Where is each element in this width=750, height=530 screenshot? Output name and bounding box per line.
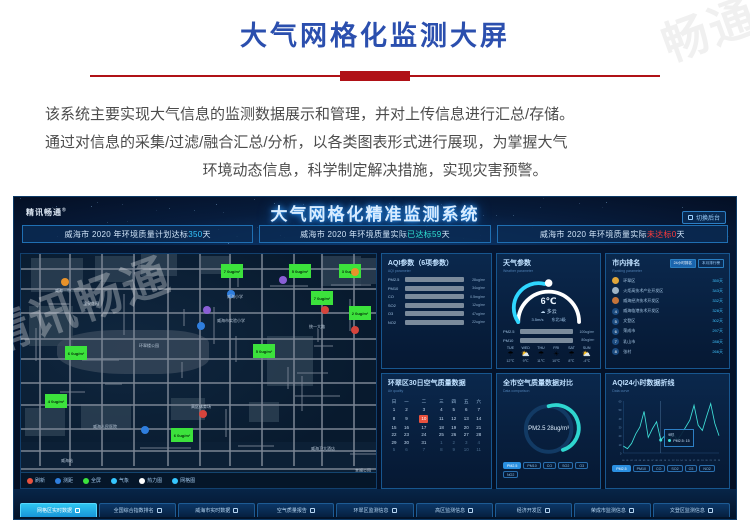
calendar-day[interactable]: 11 [435,413,447,423]
forecast-day-temp: -4℃ [579,359,594,363]
bottom-tab[interactable]: 高区监测信息 [416,503,493,517]
map-tool-测距[interactable]: 测距 [55,477,73,484]
bottom-tab[interactable]: 文登区监测信息 [653,503,730,517]
calendar-day[interactable]: 1 [435,439,447,446]
ranking-card-subtitle: Ranking parameter [612,268,723,274]
ranking-position: 6 [612,328,619,335]
map-road-minor [105,383,122,385]
line-chart-subtitle: Data curve [612,388,723,394]
aqi-row: SO212ug/m³ [388,303,485,308]
map-road-horizontal [21,268,377,270]
weather-bar-track [520,338,573,343]
ranking-row[interactable]: 8张村266天 [612,348,723,355]
expand-icon [233,508,238,513]
calendar-day[interactable]: 28 [472,431,485,438]
calendar-weekday: 日 [388,397,400,406]
expand-icon [468,508,473,513]
map-road-minor [132,268,134,281]
weather-bar-row: PM1080ug/m³ [503,338,594,343]
calendar-day[interactable]: 9 [400,413,412,423]
kpi-suffix: 天 [442,229,450,240]
svg-text:60: 60 [619,400,622,403]
svg-text:10: 10 [619,444,622,447]
svg-text:40: 40 [619,418,622,421]
bottom-tab-label: 威海市实时数据 [195,507,230,514]
map-place-label: 威海人民医院 [93,424,117,430]
kpi-prefix: 威海市 2020 年环境质量计划达标 [65,229,189,240]
map-data-marker[interactable]: 7 0ug/m³ [311,291,333,305]
bottom-tab-label: 文登区监测信息 [670,507,705,514]
calendar-day[interactable]: 18 [435,424,447,431]
weather-card-subtitle: Weather parameter [503,268,594,274]
expand-icon [392,508,397,513]
map-road-minor [140,447,191,449]
map-poi-icon[interactable] [199,410,207,418]
ranking-name: 威海经济技术开发区 [623,298,708,304]
kpi-value: 350 [188,230,202,239]
ranking-position: 8 [612,348,619,355]
bottom-tab-label: 环翠区监测信息 [353,507,388,514]
map-tool-label: 测距 [63,477,73,484]
svg-text:09: 09 [660,460,663,462]
map-road-horizontal [21,468,377,470]
calendar-week-row: 1234567 [388,406,485,413]
calendar-weekday: 六 [472,397,485,406]
weather-bar-label: PM2.5 [503,329,517,334]
kpi-strip: 威海市 2020 年环境质量计划达标 350 天威海市 2020 年环境质量实际… [14,225,736,243]
ranking-position [612,297,619,304]
map-road-minor [297,372,328,374]
calendar-weekday: 三 [435,397,447,406]
ranking-position: 7 [612,338,619,345]
divider-block [340,71,410,81]
map-poi-icon[interactable] [351,326,359,334]
weather-card-title: 天气参数 [503,259,594,268]
page-description: 该系统主要实现大气信息的监测数据展示和管理，并对上传信息进行汇总/存储。 通过对… [45,101,705,185]
aqi-row: PM2.528ug/m³ [388,277,485,282]
kpi-value: 未达标0 [647,229,677,240]
dashboard-column-2: AQI参数（6项参数） AQI parameter PM2.528ug/m³PM… [381,253,492,489]
pollutant-chip[interactable]: PM2.5 [612,465,630,472]
svg-text:05: 05 [643,460,646,462]
cloud-icon: ☁ [540,309,545,315]
svg-text:20: 20 [619,435,622,438]
aqi-card-subtitle: AQI parameter [388,268,485,274]
calendar-week-row: 22232425262728 [388,431,485,438]
map-road-vertical [199,254,201,466]
pollutant-chip[interactable]: SO2 [667,465,682,472]
forecast-day: TUE☂12℃ [503,346,518,363]
map-road-horizontal [21,382,377,384]
calendar-day[interactable]: 30 [400,439,412,446]
calendar-day[interactable]: 23 [400,431,412,438]
ranking-value: 328天 [712,308,723,314]
ranking-name: 乳山市 [623,339,708,345]
weather-condition: ☁ 多云 [503,308,594,315]
calendar-day[interactable]: 21 [472,424,485,431]
forecast-day: SAT☂8℃ [564,346,579,363]
bottom-tab[interactable]: 环翠区监测信息 [336,503,413,517]
calendar-day[interactable]: 17 [413,424,435,431]
ranking-name: 环翠区 [623,278,708,284]
calendar-day[interactable]: 22 [388,431,400,438]
map-toolbar[interactable]: 刷新测距全屏气象热力图网格图 [21,472,376,488]
map-tool-icon [83,478,89,484]
calendar-day[interactable]: 9 [448,446,460,453]
map-road-minor [35,328,37,361]
aqi-row-list: PM2.528ug/m³PM1034ug/m³CO0.5mg/m³SO212ug… [388,277,485,325]
ranking-name: 张村 [623,349,708,355]
svg-text:0: 0 [620,452,622,455]
bottom-tab-label: 全国综合指数排名 [114,507,154,514]
map-data-marker[interactable]: 6 0ug/m³ [171,428,193,442]
calendar-day[interactable]: 11 [472,446,485,453]
ranking-row[interactable]: 6荣成市297天 [612,328,723,335]
page-root: 畅通 精讯畅通 大气网格化监测大屏 该系统主要实现大气信息的监测数据展示和管理，… [0,0,750,530]
wind-direction: 东北3级 [551,317,565,323]
calendar-day[interactable]: 3 [413,406,435,413]
calendar-day[interactable]: 5 [388,446,400,453]
map-road-minor [295,395,340,397]
map-road-minor [331,284,371,286]
map-tool-label: 热力图 [147,477,162,484]
map-road-horizontal [21,288,377,290]
bottom-tab[interactable]: 威海市实时数据 [178,503,255,517]
page-title: 大气网格化监测大屏 [0,0,750,53]
ranking-row[interactable]: 5文登区302天 [612,318,723,325]
map-tool-icon [111,478,117,484]
calendar-day[interactable]: 19 [448,424,460,431]
line-chart-plot[interactable]: 6050403020100000102030405060708091011121… [612,397,723,463]
comparison-gauge-card: 全市空气质量数据对比 Data comparison PM2.5 28ug/m³… [496,373,601,489]
forecast-day-temp: 10℃ [549,359,564,363]
map-place-label: 温泉花园 [83,301,99,307]
ranking-card: 市内排名 Ranking parameter 24小时排名本月排行榜 环翠区35… [605,253,730,369]
calendar-head-row: 日一二三四五六 [388,397,485,406]
calendar-day[interactable]: 4 [472,439,485,446]
aqi-row-value: 47ug/m³ [467,312,485,316]
pollutant-chip[interactable]: PM10 [633,465,650,472]
weather-gauge: 6℃ ☁ 多云 3.5m/s 东北3级 [503,277,594,329]
expand-icon [708,508,713,513]
calendar-day[interactable]: 14 [472,413,485,423]
svg-text:13: 13 [676,460,679,462]
calendar-card: 环翠区30日空气质量数据 Air quality 日一二三四五六12345678… [381,373,492,489]
bottom-tab[interactable]: 全国综合指数排名 [99,503,176,517]
svg-text:21: 21 [710,460,713,462]
weather-bar-row: PM2.5100ug/m³ [503,329,594,334]
map-data-marker[interactable]: 6 0ug/m³ [65,346,87,360]
pollutant-chip[interactable]: PM10 [523,462,540,469]
expand-icon [75,508,80,513]
map-poi-icon[interactable] [61,278,69,286]
svg-text:08: 08 [656,460,659,462]
map-tool-label: 刷新 [35,477,45,484]
calendar-day[interactable]: 8 [388,413,400,423]
aqi-row-label: NO2 [388,320,402,325]
map-data-marker[interactable]: 5 0ug/m³ [253,344,275,358]
ranking-value: 332天 [712,298,723,304]
weather-icon: ⛅ [518,350,533,359]
calendar-day[interactable]: 6 [460,406,472,413]
pollutant-chip[interactable]: SO2 [558,462,573,469]
calendar-day[interactable]: 6 [400,446,412,453]
aqi-row-label: CO [388,294,402,299]
air-quality-calendar[interactable]: 日一二三四五六123456789101112131415161718192021… [388,397,485,453]
gauge-value-label: PM2.5 28ug/m³ [503,398,594,460]
bottom-tab-bar[interactable]: 网格区实时数据全国综合指数排名威海市实时数据空气质量报告环翠区监测信息高区监测信… [14,489,736,519]
pollutant-chip[interactable]: PM2.5 [503,462,521,469]
ranking-row[interactable]: 4威海临港技术开发区328天 [612,308,723,315]
dashboard-column-4: 市内排名 Ranking parameter 24小时排名本月排行榜 环翠区35… [605,253,730,489]
ranking-name: 荣成市 [623,328,708,334]
ranking-row[interactable]: 7乳山市288天 [612,338,723,345]
weather-bar-value: 100ug/m³ [576,330,594,334]
aqi-row-value: 0.5mg/m³ [467,295,485,299]
map-road-vertical [229,254,231,466]
pollutant-chip[interactable]: CO [652,465,665,472]
weather-bar-track [520,329,573,334]
map-road-minor [314,345,333,347]
map-road-minor [149,268,170,270]
calendar-week-row: 2930311234 [388,439,485,446]
calendar-day[interactable]: 31 [413,439,435,446]
map-road-minor [225,409,227,437]
map-poi-icon[interactable] [351,268,359,276]
calendar-day[interactable]: 26 [448,431,460,438]
dashboard-header: 精讯畅通® 大气网格化精准监测系统 切换后台 威海市 2020 年环境质量计划达… [14,197,736,245]
aqi-row: PM1034ug/m³ [388,286,485,291]
map-road-minor [301,376,303,411]
calendar-day[interactable]: 27 [460,431,472,438]
calendar-day[interactable]: 5 [448,406,460,413]
switch-backend-button[interactable]: 切换后台 [682,211,726,224]
map-poi-icon[interactable] [321,306,329,314]
calendar-day-selected: 10 [419,415,428,423]
dashboard-title: 大气网格化精准监测系统 [14,200,736,225]
ranking-row[interactable]: 威海经济技术开发区332天 [612,297,723,304]
pollutant-chip[interactable]: O3 [575,462,588,469]
gauge-chip-row[interactable]: PM2.5PM10COSO2O3NO2 [503,462,594,478]
map-road-minor [60,391,85,393]
calendar-day[interactable]: 29 [388,439,400,446]
description-line-1: 该系统主要实现大气信息的监测数据展示和管理，并对上传信息进行汇总/存储。 [45,101,705,129]
ranking-value: 288天 [712,339,723,345]
map-data-marker[interactable]: 5 0ug/m³ [289,264,311,278]
map-place-label: 威海市实验小学 [217,318,245,324]
calendar-day[interactable]: 25 [435,431,447,438]
svg-text:01: 01 [627,460,630,462]
aqi-row-track [405,311,464,316]
ranking-tab[interactable]: 本月排行榜 [698,259,724,268]
kpi-value: 已达标59 [407,229,441,240]
svg-text:04: 04 [639,460,642,462]
map-tool-icon [139,478,145,484]
weather-icon: ⛅ [579,350,594,359]
map-block [25,408,65,436]
gauge-card-title: 全市空气质量数据对比 [503,379,594,388]
tooltip-series-label: PM2.5: 15 [673,439,689,443]
pollutant-chip[interactable]: NO2 [699,465,714,472]
map-place-label: 统一大路 [309,324,325,330]
pollutant-chip[interactable]: CO [543,462,556,469]
bottom-tab-label: 高区监测信息 [435,507,465,514]
map-road-minor [183,309,185,326]
monitor-icon [688,215,693,220]
calendar-day[interactable]: 2 [400,406,412,413]
weather-icon: ☀ [549,350,564,359]
map-road-minor [270,285,308,287]
map-tool-热力图[interactable]: 热力图 [139,477,162,484]
map-place-label: 威海小学 [227,294,243,300]
map-tool-label: 网格图 [180,477,195,484]
pollutant-chip[interactable]: O3 [685,465,698,472]
calendar-day[interactable]: 4 [435,406,447,413]
pollutant-chip[interactable]: NO2 [503,471,518,478]
svg-text:19: 19 [701,460,704,462]
ranking-value: 302天 [712,318,723,324]
svg-text:50: 50 [619,409,622,412]
monitoring-map[interactable]: 5 0ug/m³7 0ug/m³3 0ug/m³7 0ug/m³2 0ug/m³… [20,253,377,489]
map-road-vertical [167,254,169,466]
calendar-day[interactable]: 12 [448,413,460,423]
bottom-tab[interactable]: 经济开发区 [495,503,572,517]
calendar-weekday: 四 [448,397,460,406]
map-tool-label: 气象 [119,477,129,484]
expand-icon [310,508,315,513]
svg-text:10: 10 [664,460,667,462]
ranking-tab-row[interactable]: 24小时排名本月排行榜 [670,259,724,268]
calendar-day[interactable]: 7 [413,446,435,453]
ranking-value: 350天 [712,278,723,284]
aqi-row-label: SO2 [388,303,402,308]
svg-text:11: 11 [668,460,671,462]
ranking-position [612,277,619,284]
kpi-item-0: 威海市 2020 年环境质量计划达标 350 天 [22,225,253,243]
ranking-value: 343天 [712,288,723,294]
calendar-card-subtitle: Air quality [388,388,485,394]
map-data-marker[interactable]: 2 0ug/m³ [349,306,371,320]
forecast-day: SUN⛅-4℃ [579,346,594,363]
weather-bar-list: PM2.5100ug/m³PM1080ug/m³ [503,329,594,343]
aqi-parameters-card: AQI参数（6项参数） AQI parameter PM2.528ug/m³PM… [381,253,492,369]
aqi-row-track [405,320,464,325]
svg-text:00: 00 [622,460,625,462]
map-tool-全屏[interactable]: 全屏 [83,477,101,484]
weather-icon: ☂ [564,350,579,359]
map-data-marker[interactable]: 4 0ug/m³ [45,394,67,408]
map-road-minor [317,329,319,342]
ranking-position: 4 [612,308,619,315]
calendar-day[interactable]: 20 [460,424,472,431]
description-line-3: 环境动态信息，科学制定解决措施，实现灾害预警。 [45,157,705,185]
ranking-row[interactable]: 火炬高技术产业开发区343天 [612,287,723,294]
map-tool-icon [27,478,33,484]
map-tool-气象[interactable]: 气象 [111,477,129,484]
map-road-minor [49,303,70,305]
map-road-horizontal [21,338,377,340]
forecast-day: WED⛅9℃ [518,346,533,363]
map-data-marker[interactable]: 7 0ug/m³ [221,264,243,278]
calendar-day[interactable]: 10 [413,413,435,423]
calendar-weekday: 二 [413,397,435,406]
ranking-value: 266天 [712,349,723,355]
svg-text:23: 23 [718,460,721,462]
ranking-row[interactable]: 环翠区350天 [612,277,723,284]
svg-text:17: 17 [693,460,696,462]
calendar-day[interactable]: 10 [460,446,472,453]
map-place-label: 威海一中 [55,288,71,294]
kpi-prefix: 威海市 2020 年环境质量实际 [300,229,407,240]
aqi-row-value: 28ug/m³ [467,278,485,282]
comparison-ring: PM2.5 28ug/m³ [503,398,594,460]
aqi-row-track [405,277,464,282]
weather-card: 天气参数 Weather parameter 6℃ ☁ 多云 [496,253,601,369]
bottom-tab[interactable]: 荣成市监测信息 [574,503,651,517]
calendar-day[interactable]: 2 [448,439,460,446]
tooltip-series: PM2.5: 15 [668,438,689,444]
calendar-day[interactable]: 13 [460,413,472,423]
calendar-day[interactable]: 3 [460,439,472,446]
map-place-label: 环翠楼公园 [139,343,159,349]
svg-text:14: 14 [681,460,684,462]
calendar-week-row: 891011121314 [388,413,485,423]
ranking-row-list: 环翠区350天火炬高技术产业开发区343天威海经济技术开发区332天4威海临港技… [612,277,723,355]
kpi-item-2: 威海市 2020 年环境质量实际 未达标0 天 [497,225,728,243]
map-tool-网格图[interactable]: 网格图 [172,477,195,484]
aqi-row: CO0.5mg/m³ [388,294,485,299]
calendar-card-title: 环翠区30日空气质量数据 [388,379,485,388]
calendar-day[interactable]: 7 [472,406,485,413]
forecast-day-temp: 9℃ [518,359,533,363]
calendar-day[interactable]: 1 [388,406,400,413]
dashboard-screenshot: 精讯畅通® 大气网格化精准监测系统 切换后台 威海市 2020 年环境质量计划达… [13,196,737,520]
map-poi-icon[interactable] [203,306,211,314]
weather-bar-label: PM10 [503,338,517,343]
weather-icon: ☂ [533,350,548,359]
svg-text:16: 16 [689,460,692,462]
calendar-day[interactable]: 24 [413,431,435,438]
map-tool-刷新[interactable]: 刷新 [27,477,45,484]
svg-text:30: 30 [619,426,622,429]
bottom-tab[interactable]: 空气质量报告 [257,503,334,517]
svg-text:22: 22 [714,460,717,462]
calendar-day[interactable]: 15 [388,424,400,431]
svg-text:03: 03 [635,460,638,462]
chart-tooltip: 9时 PM2.5: 15 [664,429,693,447]
ranking-position [612,287,619,294]
expand-icon [157,508,162,513]
map-road-horizontal [21,428,377,430]
map-road-minor [181,362,183,378]
switch-backend-label: 切换后台 [696,213,720,222]
bottom-tab[interactable]: 网格区实时数据 [20,503,97,517]
map-poi-icon[interactable] [197,322,205,330]
ranking-tab[interactable]: 24小时排名 [670,259,696,268]
calendar-day[interactable]: 8 [435,446,447,453]
map-place-label: 高区体育场 [191,404,211,410]
map-poi-icon[interactable] [279,276,287,284]
map-road-minor [123,294,125,335]
forecast-day-temp: 8℃ [564,359,579,363]
aqi-row-value: 34ug/m³ [467,286,485,290]
map-road-vertical [69,254,71,466]
forecast-day: THU☂11℃ [533,346,548,363]
map-poi-icon[interactable] [141,426,149,434]
line-chart-chip-row[interactable]: PM2.5PM10COSO2O3NO2 [612,465,723,472]
aqi-row-track [405,294,464,299]
calendar-day[interactable]: 16 [400,424,412,431]
